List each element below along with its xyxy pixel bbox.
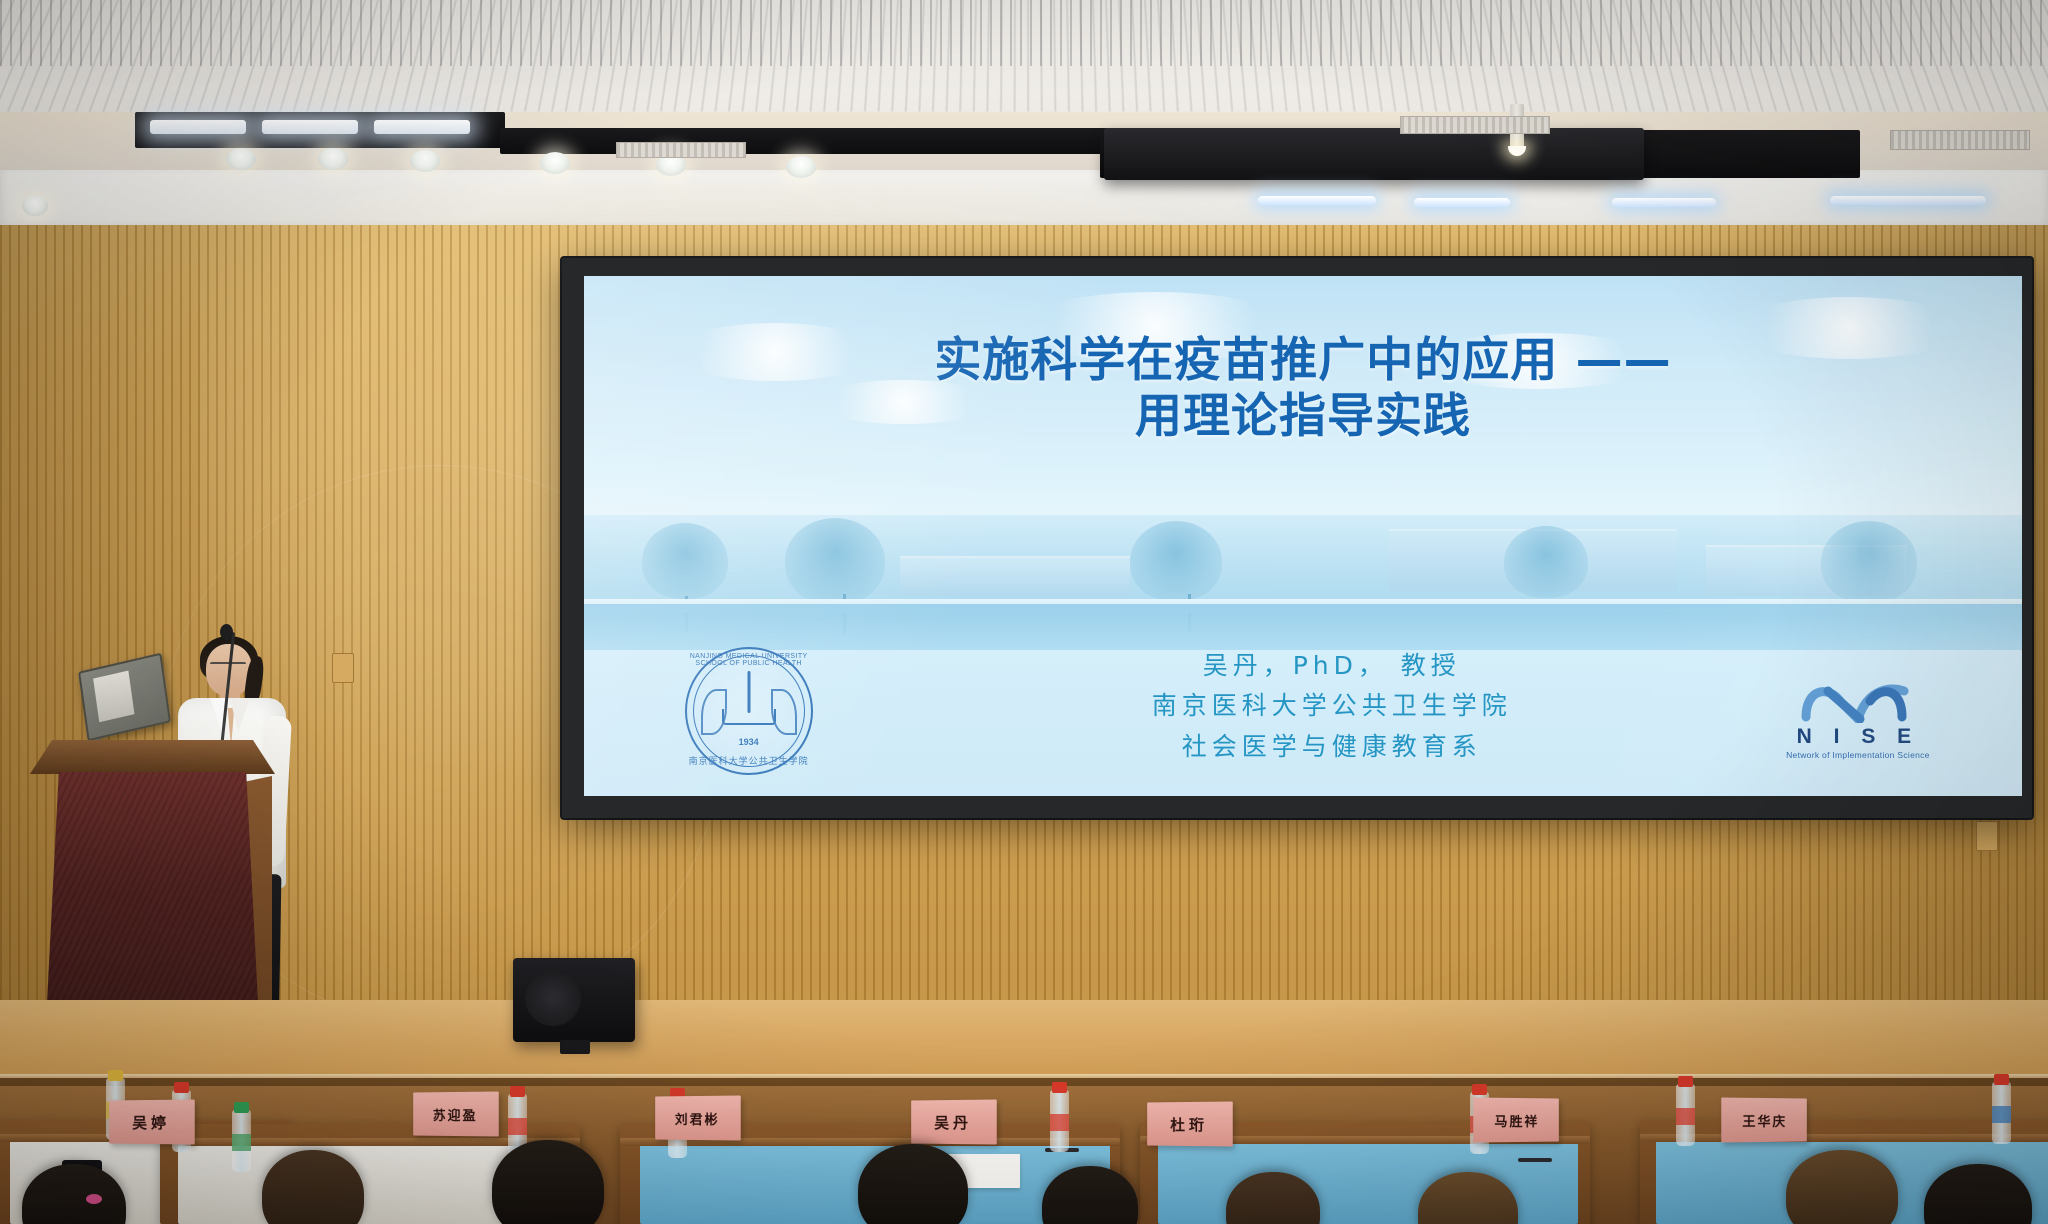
placard-name: 吴婷 — [132, 1111, 170, 1132]
gooseneck-microphone-head — [220, 624, 233, 640]
slide-title-line-2: 用理论指导实践 — [584, 389, 2022, 444]
ceiling-downlight — [226, 148, 256, 170]
nise-logo-name: N I S E — [1773, 725, 1943, 749]
slide-campus-photo — [584, 515, 2022, 650]
air-vent — [616, 142, 746, 158]
nise-logo-tagline: Network of Implementation Science — [1773, 750, 1943, 760]
bottle-cap — [234, 1102, 249, 1113]
bottle-label — [232, 1134, 251, 1151]
ceiling-downlight — [410, 150, 440, 172]
monitor-screen — [93, 671, 134, 723]
name-placard: 马胜祥 — [1473, 1097, 1559, 1142]
seal-english-text: NANJING MEDICAL UNIVERSITY SCHOOL OF PUB… — [687, 653, 811, 667]
campus-tree — [785, 518, 885, 604]
bottle-label — [1992, 1106, 2011, 1123]
slide-title: 实施科学在疫苗推广中的应用 —— 用理论指导实践 — [584, 333, 2022, 444]
campus-building — [900, 556, 1130, 597]
lectern-podium — [30, 740, 275, 1040]
podium-front-panel — [46, 772, 259, 1022]
presenter-line-2: 南京医科大学公共卫生学院 — [1001, 686, 1662, 727]
campus-tree — [1130, 521, 1222, 601]
presenter-line-1: 吴丹，PhD， 教授 — [1001, 646, 1662, 687]
seal-year: 1934 — [687, 737, 811, 747]
hair-accessory — [86, 1194, 102, 1204]
air-vent — [1890, 130, 2030, 150]
podium-desktop — [30, 740, 275, 774]
presentation-slide: 实施科学在疫苗推广中的应用 —— 用理论指导实践 吴丹，PhD， 教授 南京医科… — [584, 276, 2022, 796]
ceiling-strip-light — [1830, 196, 1986, 205]
nise-mark-icon — [1773, 679, 1943, 723]
audience-head — [1786, 1150, 1898, 1224]
bottle-label — [1676, 1108, 1695, 1125]
stage-speaker-stand — [560, 1040, 590, 1054]
slide-presenter-block: 吴丹，PhD， 教授 南京医科大学公共卫生学院 社会医学与健康教育系 — [1001, 646, 1662, 768]
placard-name: 王华庆 — [1742, 1110, 1787, 1129]
bottle-cap — [174, 1082, 189, 1093]
seal-chinese-text: 南京医科大学公共卫生学院 — [687, 754, 811, 767]
name-placard: 刘君彬 — [655, 1095, 741, 1140]
placard-name: 马胜祥 — [1494, 1110, 1539, 1129]
pen[interactable] — [1518, 1158, 1552, 1162]
name-placard: 苏迎盈 — [413, 1091, 499, 1136]
campus-tree — [642, 523, 728, 599]
wall-outlet — [332, 653, 354, 683]
seal-open-book — [722, 709, 776, 725]
ceiling-light-panel — [150, 120, 246, 134]
lecture-hall-scene: 实施科学在疫苗推广中的应用 —— 用理论指导实践 吴丹，PhD， 教授 南京医科… — [0, 0, 2048, 1224]
audience-front-area: 吴婷 苏迎盈 刘君彬 吴丹 杜珩 马胜祥 王华庆 — [0, 1086, 2048, 1224]
name-placard: 王华庆 — [1721, 1097, 1807, 1142]
nise-logo: N I S E Network of Implementation Scienc… — [1773, 679, 1943, 760]
audience-head — [858, 1144, 968, 1224]
placard-name: 刘君彬 — [675, 1108, 720, 1127]
university-seal: NANJING MEDICAL UNIVERSITY SCHOOL OF PUB… — [685, 647, 813, 775]
table-edge — [1640, 1134, 2048, 1142]
placard-name: 杜珩 — [1170, 1113, 1208, 1134]
projection-screen-frame: 实施科学在疫苗推广中的应用 —— 用理论指导实践 吴丹，PhD， 教授 南京医科… — [562, 258, 2032, 818]
campus-tree — [1821, 521, 1917, 603]
ceiling-downlight — [786, 156, 816, 178]
name-placard: 吴丹 — [911, 1099, 997, 1144]
campus-tree — [1504, 526, 1588, 598]
bottle-label — [1050, 1114, 1069, 1131]
projection-screen[interactable]: 实施科学在疫苗推广中的应用 —— 用理论指导实践 吴丹，PhD， 教授 南京医科… — [584, 276, 2022, 796]
bottle-cap — [1994, 1074, 2009, 1085]
presenter-line-3: 社会医学与健康教育系 — [1001, 727, 1662, 768]
name-placard: 吴婷 — [109, 1099, 195, 1144]
audience-head — [262, 1150, 364, 1224]
ceiling-downlight — [540, 152, 570, 174]
name-placard: 杜珩 — [1147, 1101, 1233, 1146]
ceiling-light-panel — [374, 120, 470, 134]
slide-title-line-1: 实施科学在疫苗推广中的应用 —— — [584, 333, 2022, 388]
ceiling-mounted-projector — [1104, 128, 1644, 180]
wall-outlet — [1976, 821, 1998, 851]
ceiling-downlight — [318, 148, 348, 170]
audience-head — [492, 1140, 604, 1224]
bottle-label — [508, 1118, 527, 1135]
placard-name: 苏迎盈 — [433, 1104, 478, 1123]
ceiling-downlight — [22, 196, 48, 216]
bottle-cap — [1052, 1082, 1067, 1093]
bottle-cap — [1678, 1076, 1693, 1087]
ceiling-strip-light — [1612, 198, 1716, 207]
stage-monitor-speaker — [513, 958, 635, 1042]
ceiling-light-panel — [262, 120, 358, 134]
bottle-cap — [1472, 1084, 1487, 1095]
seal-asclepius-rod — [747, 671, 750, 713]
campus-lake — [584, 604, 2022, 650]
air-vent — [1400, 116, 1550, 134]
ceiling-slats-secondary — [0, 0, 2048, 66]
bottle-cap — [510, 1086, 525, 1097]
placard-name: 吴丹 — [934, 1111, 972, 1132]
bottle-cap — [108, 1070, 123, 1081]
